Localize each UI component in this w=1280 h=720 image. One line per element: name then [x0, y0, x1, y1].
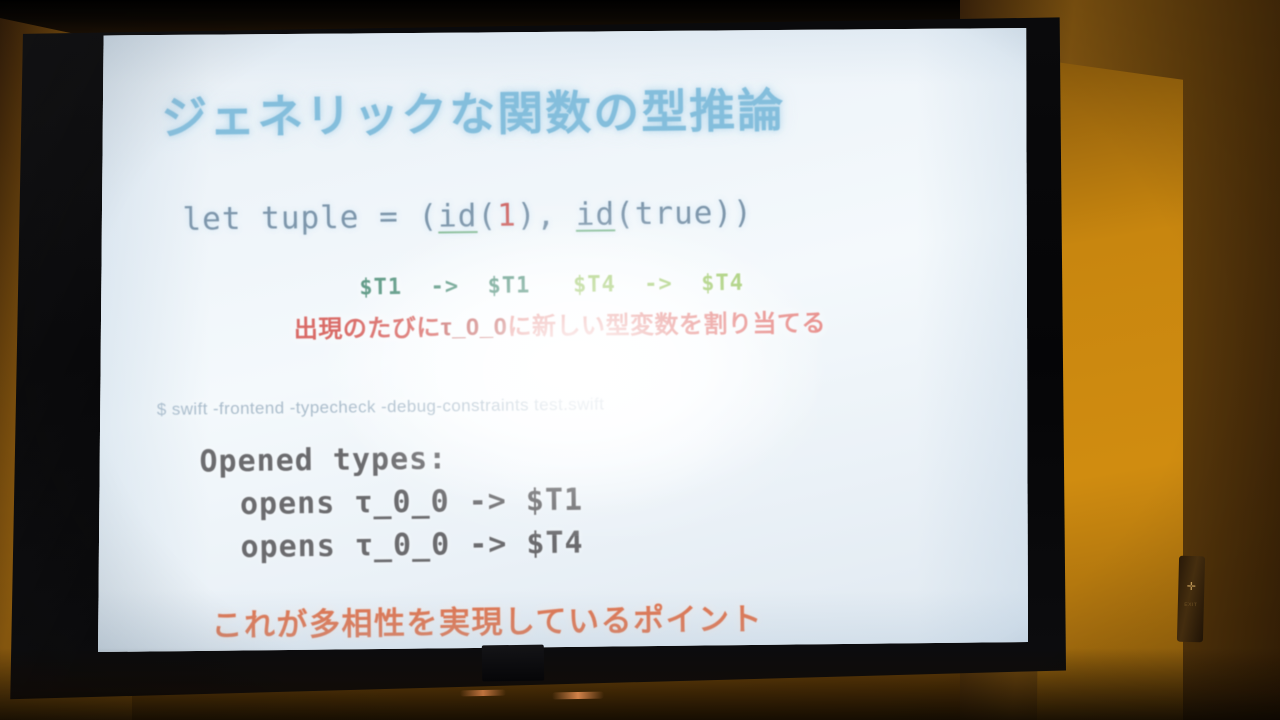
display-indicator-right	[552, 692, 604, 700]
code-mid: ),	[517, 197, 576, 234]
display-sensor-bar	[482, 645, 544, 682]
code-number: 1	[497, 198, 517, 234]
code-bool: true	[635, 195, 714, 232]
photo-frame: ✛ EXIT ジェネリックな関数の型推論 let tuple = (id(1),…	[0, 0, 1280, 720]
red-note-tau: τ_0_0	[441, 314, 508, 342]
code-open-paren-1: (	[477, 198, 497, 234]
red-annotation-note: 出現のたびにτ_0_0に新しい型変数を割り当てる	[294, 312, 826, 342]
slide-surface: ジェネリックな関数の型推論 let tuple = (id(1), id(tru…	[98, 28, 1028, 652]
code-open-paren-2: (	[615, 196, 635, 232]
code-close: ))	[713, 195, 753, 231]
red-note-part-b: に新しい型変数を割り当てる	[507, 310, 826, 341]
room-floor-shadow	[0, 648, 1280, 720]
slide-content: ジェネリックな関数の型推論 let tuple = (id(1), id(tru…	[98, 28, 1028, 652]
output-line-2: opens τ_0_0 -> $T4	[240, 529, 583, 563]
output-line-1: opens τ_0_0 -> $T1	[240, 486, 583, 520]
red-note-part-a: 出現のたびに	[294, 314, 441, 343]
type-annotation-first: $T1 -> $T1	[359, 273, 530, 300]
slide-title: ジェネリックな関数の型推論	[161, 87, 786, 141]
type-annotation-second: $T4 -> $T4	[573, 271, 744, 298]
type-annotation-row: $T1 -> $T1 $T4 -> $T4	[359, 273, 744, 300]
terminal-command: $ swift -frontend -typecheck -debug-cons…	[157, 396, 605, 418]
footer-note: これが多相性を実現しているポイント	[211, 604, 763, 642]
code-id-second: id	[576, 196, 616, 232]
display-indicator-left	[460, 690, 506, 697]
wall-fixture-label: EXIT	[1184, 602, 1197, 608]
output-header: Opened types:	[199, 444, 447, 477]
code-prefix: let tuple = (	[182, 199, 438, 238]
wall-fixture: ✛ EXIT	[1177, 556, 1205, 643]
code-line: let tuple = (id(1), id(true))	[182, 198, 753, 236]
code-id-first: id	[438, 198, 478, 234]
cross-icon: ✛	[1187, 582, 1197, 593]
